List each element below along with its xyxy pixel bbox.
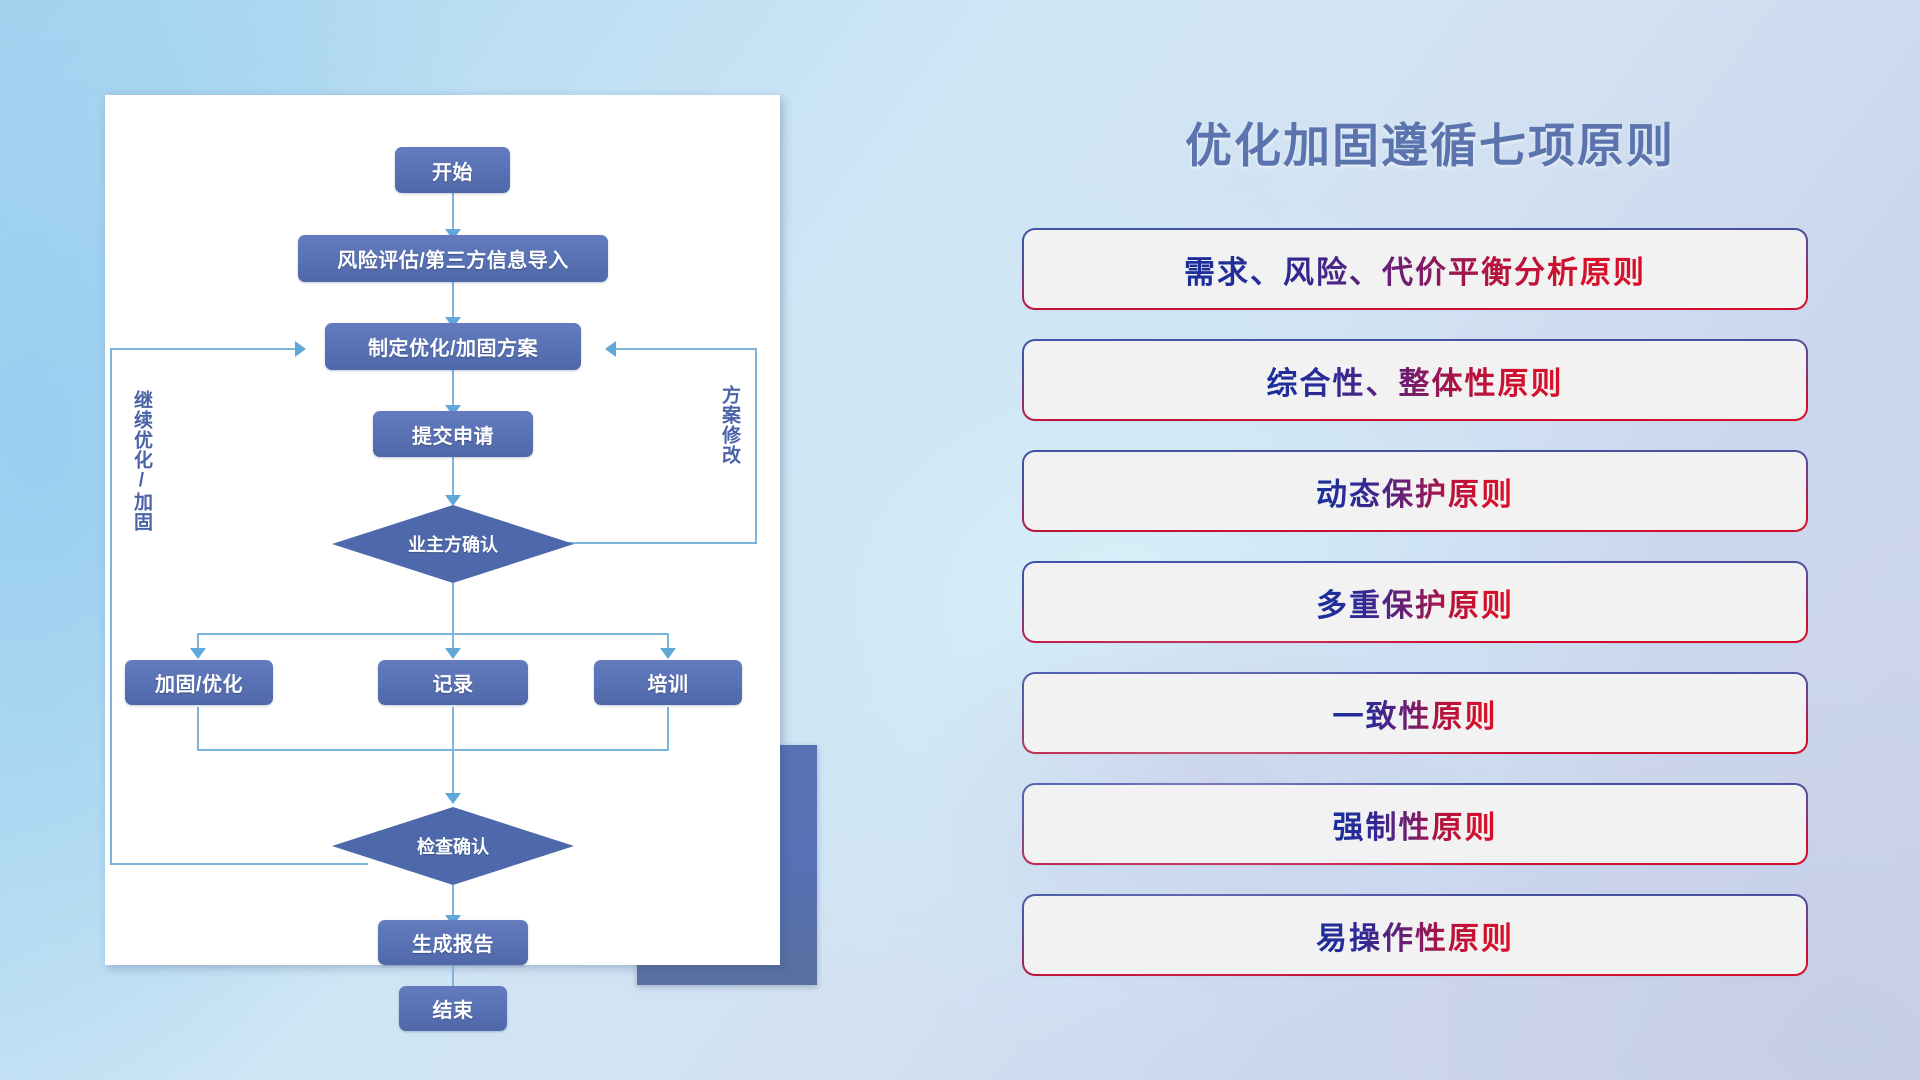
principle-label-6: 强制性原则 bbox=[1333, 802, 1498, 847]
flow-node-report-label: 生成报告 bbox=[412, 928, 494, 957]
branch-bus-top bbox=[197, 633, 667, 635]
principles-list: 需求、风险、代价平衡分析原则 综合性、整体性原则 动态保护原则 多重保护原则 一… bbox=[1024, 230, 1806, 1007]
flowchart: 开始 风险评估/第三方信息导入 制定优化/加固方案 提交申请 业主方确认 加固/… bbox=[105, 95, 780, 965]
flow-node-training-label: 培训 bbox=[648, 668, 689, 697]
arrow-merge-check bbox=[445, 793, 461, 804]
flow-node-plan[interactable]: 制定优化/加固方案 bbox=[325, 323, 581, 370]
loop-right-vertical bbox=[755, 348, 757, 544]
flow-node-owner-confirm[interactable]: 业主方确认 bbox=[332, 505, 574, 583]
connector-record-check bbox=[452, 707, 454, 800]
arrow-bus-training bbox=[660, 648, 676, 659]
arrow-loop-right-into-plan bbox=[605, 341, 616, 357]
arrow-bus-reinforce bbox=[190, 648, 206, 659]
flow-node-reinforce-label: 加固/优化 bbox=[155, 668, 243, 697]
merge-bus bbox=[197, 749, 667, 751]
flow-node-plan-label: 制定优化/加固方案 bbox=[368, 332, 538, 361]
arrow-bus-record bbox=[445, 648, 461, 659]
arrow-loop-left-into-plan bbox=[295, 341, 306, 357]
loop-left-vertical bbox=[110, 348, 112, 865]
principle-card-3[interactable]: 动态保护原则 bbox=[1024, 452, 1806, 530]
connector-training-merge bbox=[667, 707, 669, 751]
principle-card-4[interactable]: 多重保护原则 bbox=[1024, 563, 1806, 641]
slide-canvas: 开始 风险评估/第三方信息导入 制定优化/加固方案 提交申请 业主方确认 加固/… bbox=[0, 0, 1920, 1080]
flow-node-record-label: 记录 bbox=[433, 668, 474, 697]
edge-label-plan-revision: 方案修改 bbox=[719, 385, 739, 465]
flow-node-start-label: 开始 bbox=[432, 156, 473, 185]
flow-node-training[interactable]: 培训 bbox=[594, 660, 742, 705]
flow-node-check-confirm-label: 检查确认 bbox=[417, 833, 489, 859]
arrow-submit-owner bbox=[445, 495, 461, 506]
flow-node-record[interactable]: 记录 bbox=[378, 660, 528, 705]
loop-left-top bbox=[110, 348, 300, 350]
flow-node-end-label: 结束 bbox=[433, 994, 474, 1023]
principle-label-3: 动态保护原则 bbox=[1316, 469, 1514, 514]
principle-card-5[interactable]: 一致性原则 bbox=[1024, 674, 1806, 752]
flow-node-reinforce[interactable]: 加固/优化 bbox=[125, 660, 273, 705]
flow-node-start[interactable]: 开始 bbox=[395, 147, 510, 193]
principle-card-7[interactable]: 易操作性原则 bbox=[1024, 896, 1806, 974]
principle-label-7: 易操作性原则 bbox=[1316, 913, 1514, 958]
loop-left-bottom bbox=[110, 863, 368, 865]
flow-node-submit[interactable]: 提交申请 bbox=[373, 411, 533, 457]
principle-card-6[interactable]: 强制性原则 bbox=[1024, 785, 1806, 863]
flow-node-risk-assessment[interactable]: 风险评估/第三方信息导入 bbox=[298, 235, 608, 282]
connector-owner-bus bbox=[452, 581, 454, 635]
flow-node-report[interactable]: 生成报告 bbox=[378, 920, 528, 965]
flow-node-submit-label: 提交申请 bbox=[412, 420, 494, 449]
flow-node-check-confirm[interactable]: 检查确认 bbox=[332, 807, 574, 885]
flow-node-owner-confirm-label: 业主方确认 bbox=[408, 531, 498, 557]
flowchart-card: 开始 风险评估/第三方信息导入 制定优化/加固方案 提交申请 业主方确认 加固/… bbox=[105, 95, 780, 965]
principle-label-2: 综合性、整体性原则 bbox=[1267, 358, 1564, 403]
principle-card-2[interactable]: 综合性、整体性原则 bbox=[1024, 341, 1806, 419]
principle-label-4: 多重保护原则 bbox=[1316, 580, 1514, 625]
principle-label-1: 需求、风险、代价平衡分析原则 bbox=[1184, 247, 1646, 292]
loop-right-top bbox=[616, 348, 756, 350]
flow-node-risk-assessment-label: 风险评估/第三方信息导入 bbox=[337, 244, 569, 273]
connector-reinforce-merge bbox=[197, 707, 199, 751]
flow-node-end[interactable]: 结束 bbox=[399, 986, 507, 1031]
edge-label-continue-optimize: 继续优化/加固 bbox=[131, 390, 151, 532]
principle-label-5: 一致性原则 bbox=[1333, 691, 1498, 736]
page-title: 优化加固遵循七项原则 bbox=[1020, 107, 1840, 176]
principle-card-1[interactable]: 需求、风险、代价平衡分析原则 bbox=[1024, 230, 1806, 308]
